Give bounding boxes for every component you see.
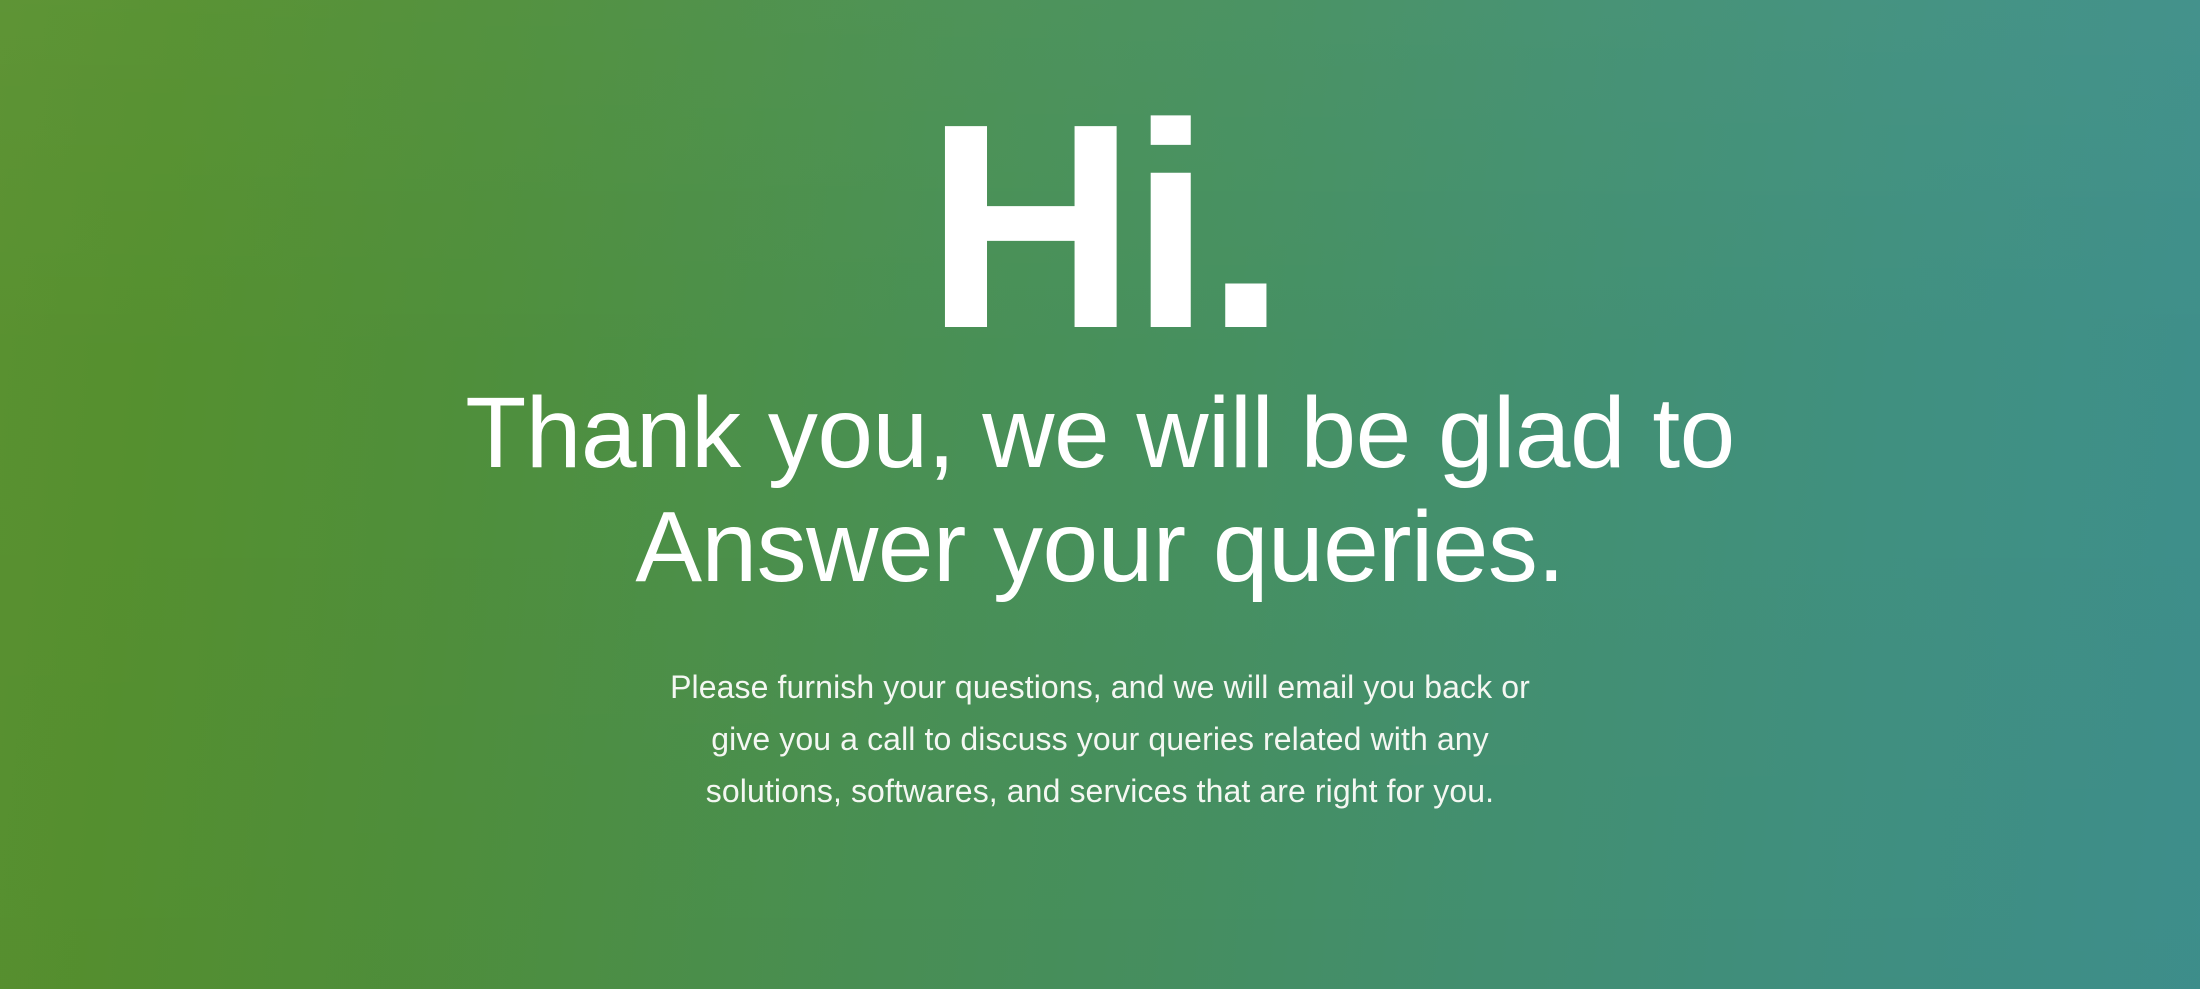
hero-subtitle-line-1: Thank you, we will be glad to: [465, 376, 1735, 490]
hero-body-line-3: solutions, softwares, and services that …: [670, 766, 1530, 818]
hero-content: Hi. Thank you, we will be glad to Answer…: [0, 0, 2200, 818]
contact-hero-section: Hi. Thank you, we will be glad to Answer…: [0, 0, 2200, 989]
page-title: Hi.: [919, 118, 1280, 334]
hero-body-line-2: give you a call to discuss your queries …: [670, 714, 1530, 766]
hero-body-paragraph: Please furnish your questions, and we wi…: [670, 662, 1530, 817]
hero-body-line-1: Please furnish your questions, and we wi…: [670, 662, 1530, 714]
hero-subtitle-line-2: Answer your queries.: [465, 490, 1735, 604]
hero-subtitle: Thank you, we will be glad to Answer you…: [465, 376, 1735, 604]
